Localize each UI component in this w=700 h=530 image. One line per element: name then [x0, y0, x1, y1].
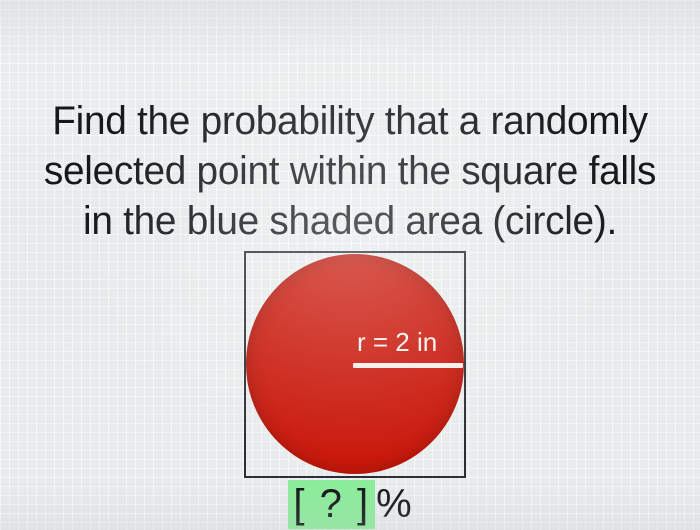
worksheet-page: Find the probability that a randomly sel… — [0, 0, 700, 530]
radius-segment-icon — [353, 363, 463, 368]
question-text: Find the probability that a randomly sel… — [11, 96, 690, 246]
geometry-figure: r = 2 in — [244, 251, 466, 478]
answer-row: [ ? ]% — [0, 481, 700, 527]
percent-sign: % — [375, 482, 412, 526]
answer-blank[interactable]: [ ? ] — [288, 480, 375, 529]
question-line-3: in the blue shaded area (circle). — [11, 196, 690, 246]
radius-label: r = 2 in — [357, 327, 437, 357]
question-line-1: Find the probability that a randomly — [11, 96, 690, 146]
question-line-2: selected point within the square falls — [11, 146, 690, 196]
